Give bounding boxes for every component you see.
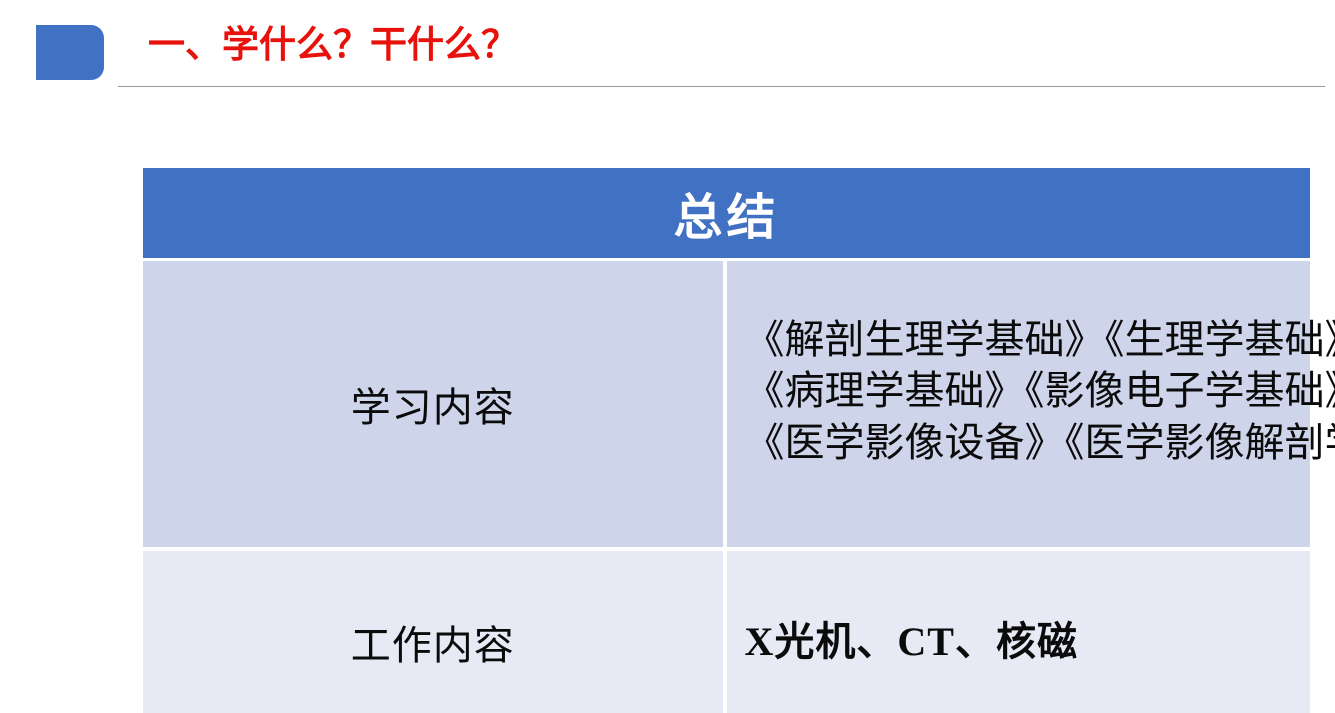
page-title: 一、学什么？干什么？ [148, 24, 518, 67]
work-content-line-1: X光机、CT、核磁 [745, 616, 1311, 667]
table-header-row: 总结 [143, 168, 1310, 261]
row-label-study-content: 学习内容 [143, 261, 727, 547]
table-row: 学习内容 《解剖生理学基础》《生理学基础》 《病理学基础》《影像电子学基础》 《… [143, 261, 1310, 547]
slide-header: 一、学什么？干什么？ [0, 0, 1335, 100]
row-value-study-content: 《解剖生理学基础》《生理学基础》 《病理学基础》《影像电子学基础》 《医学影像设… [727, 261, 1311, 547]
study-content-line-3: 《医学影像设备》《医学影像解剖学》 [745, 418, 1311, 469]
title-divider [118, 86, 1325, 87]
summary-table: 总结 学习内容 《解剖生理学基础》《生理学基础》 《病理学基础》《影像电子学基础… [143, 168, 1310, 713]
row-label-work-content: 工作内容 [143, 551, 727, 713]
study-content-line-2: 《病理学基础》《影像电子学基础》 [745, 366, 1311, 417]
row-value-work-content: X光机、CT、核磁 [727, 551, 1311, 713]
table-row: 工作内容 X光机、CT、核磁 [143, 551, 1310, 713]
title-accent-marker [36, 25, 104, 80]
table-title-cell: 总结 [143, 168, 1310, 261]
study-content-line-1: 《解剖生理学基础》《生理学基础》 [745, 315, 1311, 366]
